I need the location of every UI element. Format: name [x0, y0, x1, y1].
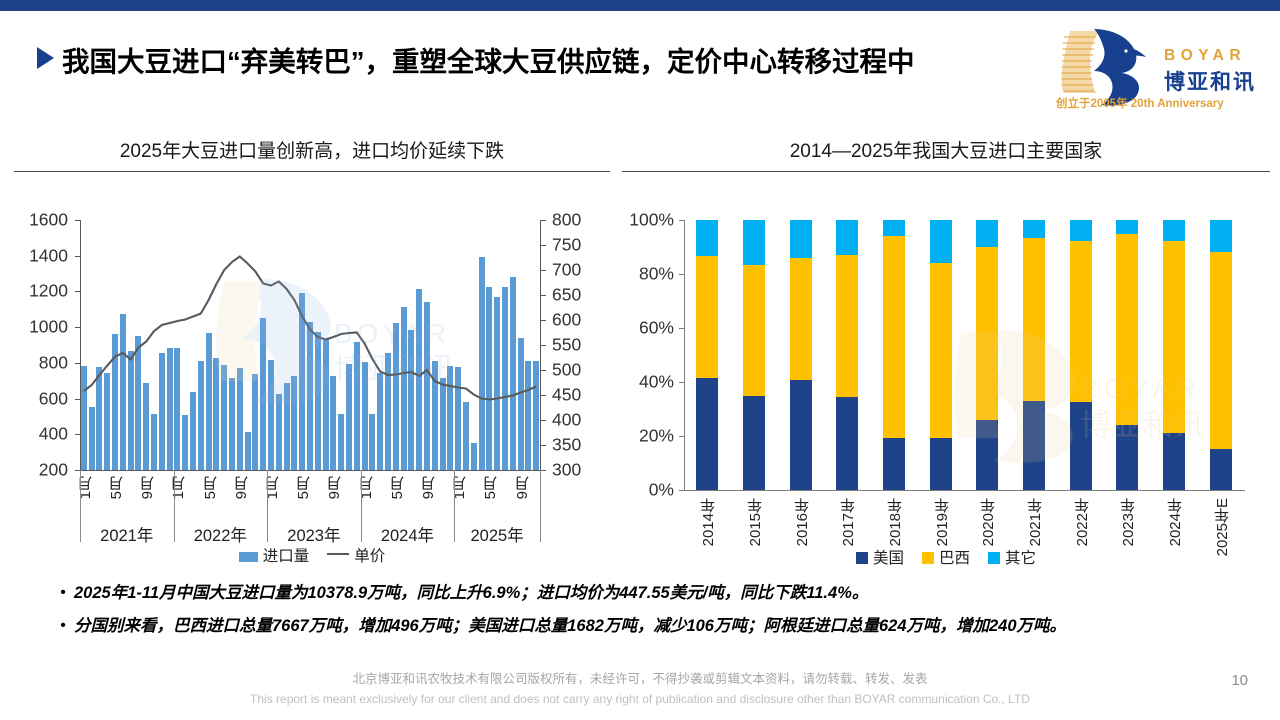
legend-label: 进口量 [263, 548, 310, 565]
stacked-bar [696, 220, 718, 490]
x-axis-year-label: 2022年 [1072, 498, 1093, 546]
y-axis-tick-left: 200 [39, 460, 68, 481]
stacked-bar [976, 220, 998, 490]
stacked-bar-segment [743, 396, 765, 490]
stacked-bar-segment [930, 220, 952, 263]
y-tick-mark-right [541, 345, 546, 346]
footer-copyright-en: This report is meant exclusively for our… [0, 692, 1280, 706]
stacked-bar-segment [790, 220, 812, 258]
x-axis-year-label: 2025年 [454, 522, 540, 546]
x-axis-month-tick: 1月 [262, 476, 283, 499]
y-axis-tick-right: 750 [552, 235, 581, 256]
slide-footer: 北京博亚和讯农牧技术有限公司版权所有，未经许可，不得抄袭或剪辑文本资料，请勿转载… [0, 668, 1280, 706]
bullet-item: •分国别来看，巴西进口总量7667万吨，增加496万吨；美国进口总量1682万吨… [52, 615, 1252, 637]
x-axis-month-tick: 5月 [387, 476, 408, 499]
legend-item-import-volume: 进口量 [239, 548, 310, 565]
left-chart-panel: 2025年大豆进口量创新高，进口均价延续下跌 16001400120010008… [14, 131, 610, 566]
stacked-bar [1210, 220, 1232, 490]
y-tick-mark-right [541, 395, 546, 396]
x-axis-year-label: 2020年 [978, 498, 999, 546]
y-tick-mark-right [541, 420, 546, 421]
y-axis-tick-right: 550 [552, 335, 581, 356]
y-axis-tick: 80% [639, 264, 674, 285]
right-chart-y-axis [684, 220, 685, 490]
stacked-bar-segment [743, 265, 765, 396]
y-tick-mark [679, 382, 684, 383]
x-axis-year-label: 2014年 [698, 498, 719, 546]
right-chart-x-axis [684, 490, 1245, 491]
y-tick-mark [679, 220, 684, 221]
y-axis-tick: 100% [629, 210, 674, 231]
x-axis-month-tick: 9月 [324, 476, 345, 499]
logo-tagline: 创立于2005年 20th Anniversary [1056, 95, 1224, 111]
y-tick-mark-right [541, 270, 546, 271]
y-tick-mark-right [541, 220, 546, 221]
page-number: 10 [1231, 672, 1248, 689]
stacked-bar-segment [976, 220, 998, 247]
stacked-bar-segment [696, 378, 718, 490]
y-axis-tick-right: 700 [552, 260, 581, 281]
y-axis-tick-right: 400 [552, 410, 581, 431]
y-axis-tick: 0% [649, 480, 674, 501]
stacked-bar [836, 220, 858, 490]
y-tick-mark-right [541, 320, 546, 321]
stacked-bar-segment [836, 397, 858, 490]
triangle-right-icon [37, 47, 54, 69]
stacked-bar-segment [790, 258, 812, 381]
y-axis-tick-left: 1400 [29, 245, 68, 266]
stacked-bar [930, 220, 952, 490]
x-axis-month-tick: 5月 [106, 476, 127, 499]
left-chart: 1600140012001000800600400200800750700650… [14, 172, 610, 572]
x-axis-month-tick: 1月 [356, 476, 377, 499]
stacked-bar-segment [1070, 402, 1092, 490]
x-axis-month-tick: 5月 [480, 476, 501, 499]
y-tick-mark-right [541, 470, 546, 471]
x-axis-month-tick: 9月 [231, 476, 252, 499]
stacked-bar [883, 220, 905, 490]
y-axis-tick: 60% [639, 318, 674, 339]
stacked-bar-segment [1116, 220, 1138, 234]
y-axis-tick-left: 600 [39, 388, 68, 409]
stacked-bar-segment [1023, 220, 1045, 238]
y-tick-mark-right [541, 295, 546, 296]
y-axis-tick-left: 800 [39, 352, 68, 373]
bullet-item: •2025年1-11月中国大豆进口量为10378.9万吨，同比上升6.9%；进口… [52, 582, 1252, 604]
x-axis-month-tick: 1月 [168, 476, 189, 499]
x-axis-year-label: 2017年 [838, 498, 859, 546]
stacked-bar [743, 220, 765, 490]
right-chart-panel: 2014—2025年我国大豆进口主要国家 100%80%60%40%20%0% … [622, 131, 1270, 566]
y-axis-tick: 20% [639, 426, 674, 447]
x-axis-year-label: 2023年 [1118, 498, 1139, 546]
stacked-bar [1163, 220, 1185, 490]
stacked-bar-segment [696, 220, 718, 256]
x-axis-month-tick: 5月 [293, 476, 314, 499]
x-axis-year-label: 2019年 [932, 498, 953, 546]
legend-item-unit-price: 单价 [327, 548, 385, 565]
legend-label: 其它 [1005, 550, 1036, 567]
y-axis-tick-right: 450 [552, 385, 581, 406]
legend-swatch-icon [922, 552, 934, 564]
page-title: 我国大豆进口“弃美转巴”，重塑全球大豆供应链，定价中心转移过程中 [62, 39, 1072, 79]
bullet-dot-icon: • [52, 582, 74, 604]
stacked-bar-segment [1070, 241, 1092, 402]
stacked-bar-segment [790, 380, 812, 490]
stacked-bar-segment [976, 420, 998, 490]
stacked-bar-segment [883, 220, 905, 236]
stacked-bar-segment [1210, 252, 1232, 448]
stacked-bar-segment [1163, 241, 1185, 433]
y-axis-tick-right: 800 [552, 210, 581, 231]
y-axis-tick-left: 400 [39, 424, 68, 445]
x-axis-year-label: 2024年 [361, 522, 455, 546]
stacked-bar-segment [883, 438, 905, 490]
y-tick-mark-right [541, 370, 546, 371]
x-axis-month-tick: 9月 [512, 476, 533, 499]
stacked-bar [1116, 220, 1138, 490]
x-axis-year-label: 2024年 [1165, 498, 1186, 546]
legend-item-美国: 美国 [856, 550, 904, 567]
x-axis-month-tick: 1月 [449, 476, 470, 499]
right-chart-title: 2014—2025年我国大豆进口主要国家 [622, 131, 1270, 163]
slide-root: 我国大豆进口“弃美转巴”，重塑全球大豆供应链，定价中心转移过程中 [0, 0, 1280, 720]
right-chart: 100%80%60%40%20%0% 2014年2015年2016年2017年2… [622, 172, 1270, 572]
legend-item-其它: 其它 [988, 550, 1036, 567]
stacked-bar-segment [976, 247, 998, 420]
legend-label: 美国 [873, 550, 904, 567]
top-accent-bar [0, 0, 1280, 11]
stacked-bar [1023, 220, 1045, 490]
stacked-bar-segment [1116, 234, 1138, 426]
stacked-bar [790, 220, 812, 490]
unit-price-line [80, 220, 540, 470]
y-tick-mark [679, 328, 684, 329]
x-axis-year-label: 2016年 [792, 498, 813, 546]
y-axis-tick: 40% [639, 372, 674, 393]
y-tick-mark-right [541, 445, 546, 446]
left-chart-legend: 进口量单价 [14, 544, 610, 566]
legend-label: 单价 [354, 548, 385, 565]
logo-brand-cn: 博亚和讯 [1164, 66, 1256, 96]
y-tick-mark-right [541, 245, 546, 246]
stacked-bar-segment [1163, 433, 1185, 490]
right-chart-plot-area: 100%80%60%40%20%0% [684, 220, 1244, 490]
legend-swatch-icon [856, 552, 868, 564]
y-axis-tick-right: 500 [552, 360, 581, 381]
legend-item-巴西: 巴西 [922, 550, 970, 567]
stacked-bar-segment [1023, 238, 1045, 401]
stacked-bar-segment [1210, 220, 1232, 252]
bottom-axis-line [80, 470, 541, 471]
stacked-bar-segment [1116, 425, 1138, 490]
footer-copyright-cn: 北京博亚和讯农牧技术有限公司版权所有，未经许可，不得抄袭或剪辑文本资料，请勿转载… [0, 668, 1280, 687]
right-chart-legend: 美国巴西其它 [622, 546, 1270, 568]
x-axis-year-label: 2021年 [80, 522, 174, 546]
y-axis-tick-left: 1600 [29, 210, 68, 231]
y-tick-mark [679, 274, 684, 275]
stacked-bar-segment [930, 438, 952, 490]
y-tick-mark [679, 490, 684, 491]
x-axis-month-tick: 1月 [75, 476, 96, 499]
year-group-separator [540, 470, 541, 542]
x-axis-month-tick: 9月 [137, 476, 158, 499]
y-axis-tick-left: 1000 [29, 317, 68, 338]
boyar-logo: BOYAR 博亚和讯 创立于2005年 20th Anniversary [1052, 25, 1272, 117]
x-axis-year-label: 2021年 [1025, 498, 1046, 546]
y-axis-tick-right: 600 [552, 310, 581, 331]
legend-swatch-icon [988, 552, 1000, 564]
y-axis-tick-right: 300 [552, 460, 581, 481]
stacked-bar-segment [1023, 401, 1045, 490]
legend-label: 巴西 [939, 550, 970, 567]
stacked-bar-segment [743, 220, 765, 265]
x-axis-month-tick: 9月 [418, 476, 439, 499]
left-chart-title: 2025年大豆进口量创新高，进口均价延续下跌 [14, 131, 610, 163]
bullet-text: 2025年1-11月中国大豆进口量为10378.9万吨，同比上升6.9%；进口均… [74, 582, 868, 604]
slide-header: 我国大豆进口“弃美转巴”，重塑全球大豆供应链，定价中心转移过程中 [0, 11, 1280, 111]
logo-brand-en: BOYAR [1164, 47, 1246, 65]
stacked-bar-segment [836, 220, 858, 255]
x-axis-year-label: 2023年 [267, 522, 361, 546]
legend-swatch-icon [239, 552, 258, 562]
bullet-text: 分国别来看，巴西进口总量7667万吨，增加496万吨；美国进口总量1682万吨，… [74, 615, 1066, 637]
bullet-list: •2025年1-11月中国大豆进口量为10378.9万吨，同比上升6.9%；进口… [52, 582, 1252, 648]
stacked-bar-segment [930, 263, 952, 437]
stacked-bar-segment [1070, 220, 1092, 241]
stacked-bar-segment [883, 236, 905, 438]
stacked-bar-segment [836, 255, 858, 397]
stacked-bar [1070, 220, 1092, 490]
y-axis-tick-right: 650 [552, 285, 581, 306]
x-axis-year-label: 2018年 [885, 498, 906, 546]
x-axis-year-label: 2015年 [745, 498, 766, 546]
x-axis-month-tick: 5月 [200, 476, 221, 499]
legend-line-icon [327, 553, 349, 555]
y-axis-tick-left: 1200 [29, 281, 68, 302]
stacked-bar-segment [1210, 449, 1232, 490]
x-axis-year-label: 2022年 [174, 522, 268, 546]
left-chart-plot-area: 1600140012001000800600400200800750700650… [80, 220, 540, 470]
stacked-bar-segment [696, 256, 718, 378]
bullet-dot-icon: • [52, 615, 74, 637]
stacked-bar-segment [1163, 220, 1185, 241]
y-tick-mark [679, 436, 684, 437]
y-axis-tick-right: 350 [552, 435, 581, 456]
